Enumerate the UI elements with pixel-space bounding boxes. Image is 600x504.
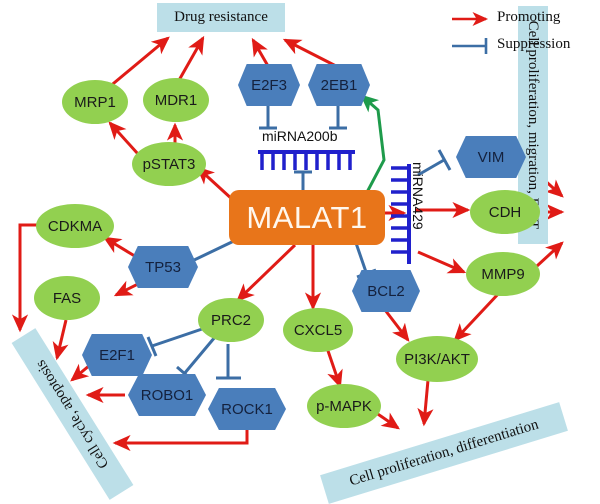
node-vim[interactable]: VIM — [456, 136, 526, 178]
legend-suppression-label: Suppression — [497, 36, 570, 53]
mirna200b-label: miRNA200b — [262, 128, 337, 144]
node-label: BCL2 — [367, 283, 405, 300]
node-mrp1[interactable]: MRP1 — [62, 80, 128, 124]
node-label: MRP1 — [74, 94, 116, 111]
mirna200b-graphic — [258, 152, 355, 170]
node-label: E2F1 — [99, 347, 135, 364]
node-pi3k-akt[interactable]: PI3K/AKT — [396, 336, 478, 382]
outcome-label: Drug resistance — [174, 9, 268, 26]
node-label: E2F3 — [251, 77, 287, 94]
node-cdh[interactable]: CDH — [470, 190, 540, 234]
node-e2f3[interactable]: E2F3 — [238, 64, 300, 106]
node-tp53[interactable]: TP53 — [128, 246, 198, 288]
node-p-mapk[interactable]: p-MAPK — [307, 384, 381, 428]
node-prc2[interactable]: PRC2 — [198, 298, 264, 342]
node-rock1[interactable]: ROCK1 — [208, 388, 286, 430]
node-label: FAS — [53, 290, 81, 307]
node-label: p-MAPK — [316, 398, 372, 415]
node-label: 2EB1 — [321, 77, 358, 94]
node-label: CDH — [489, 204, 522, 221]
node-pstat3[interactable]: pSTAT3 — [132, 142, 206, 186]
node-robo1[interactable]: ROBO1 — [128, 374, 206, 416]
node-mmp9[interactable]: MMP9 — [466, 252, 540, 296]
node-label: MALAT1 — [246, 200, 367, 236]
node-label: CXCL5 — [294, 322, 342, 339]
node-label: ROCK1 — [221, 401, 273, 418]
node-cxcl5[interactable]: CXCL5 — [283, 308, 353, 352]
legend-tee-icon — [452, 38, 486, 54]
mirna429-label: miRNA429 — [410, 162, 426, 230]
node-mdr1[interactable]: MDR1 — [143, 78, 209, 122]
node-label: MDR1 — [155, 92, 198, 109]
node-fas[interactable]: FAS — [34, 276, 100, 320]
outcome-drug-resistance: Drug resistance — [157, 3, 285, 32]
node-label: PRC2 — [211, 312, 251, 329]
legend-promoting-label: Promoting — [497, 9, 560, 26]
node-label: VIM — [478, 149, 505, 166]
node-label: ROBO1 — [141, 387, 194, 404]
node-cdkma[interactable]: CDKMA — [36, 204, 114, 248]
node-2eb1[interactable]: 2EB1 — [308, 64, 370, 106]
node-e2f1[interactable]: E2F1 — [82, 334, 152, 376]
green-promoting-edge — [362, 96, 384, 196]
node-label: MMP9 — [481, 266, 524, 283]
node-label: pSTAT3 — [143, 156, 196, 173]
pathway-diagram: Drug resistance Cell proliferation, migr… — [0, 0, 600, 500]
node-label: PI3K/AKT — [404, 351, 470, 368]
node-label: CDKMA — [48, 218, 102, 235]
node-malat1[interactable]: MALAT1 — [229, 190, 385, 245]
node-label: TP53 — [145, 259, 181, 276]
node-bcl2[interactable]: BCL2 — [352, 270, 420, 312]
